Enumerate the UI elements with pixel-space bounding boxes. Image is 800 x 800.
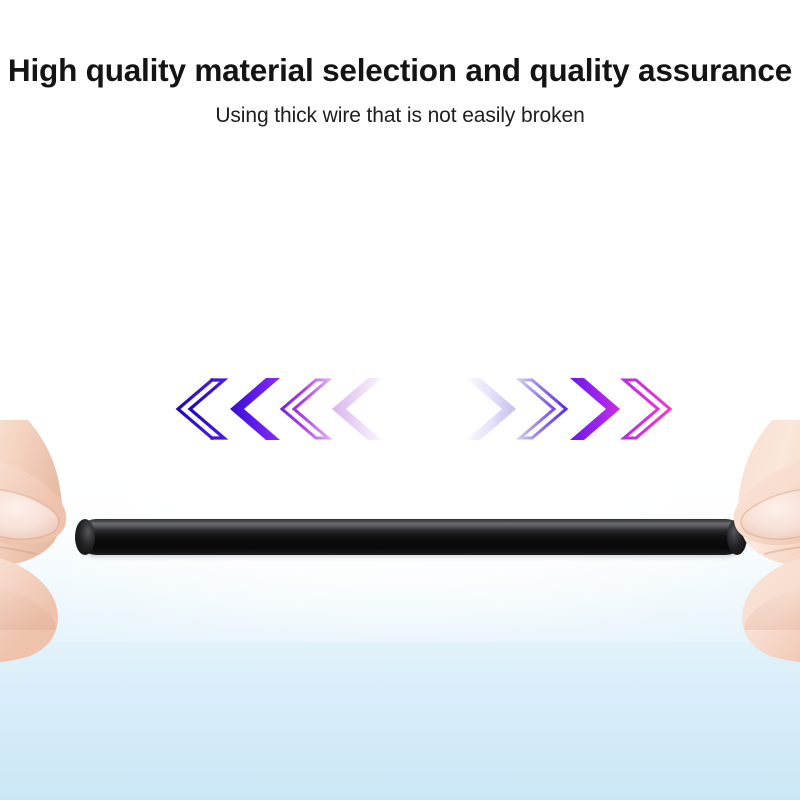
right-arrow-group xyxy=(466,374,646,444)
left-hand xyxy=(0,430,143,700)
chevron-left-3 xyxy=(282,380,328,438)
chevron-left-1 xyxy=(178,380,224,438)
page-subtitle: Using thick wire that is not easily brok… xyxy=(0,104,800,128)
right-hand xyxy=(657,430,800,700)
chevron-left-2 xyxy=(230,378,280,440)
chevron-right-2 xyxy=(520,380,566,438)
chevron-right-1 xyxy=(466,378,516,440)
page-title: High quality material selection and qual… xyxy=(0,52,800,89)
chevron-right-3 xyxy=(570,378,620,440)
left-arrow-group xyxy=(168,374,348,444)
black-cable xyxy=(78,519,744,555)
product-banner: High quality material selection and qual… xyxy=(0,0,800,800)
